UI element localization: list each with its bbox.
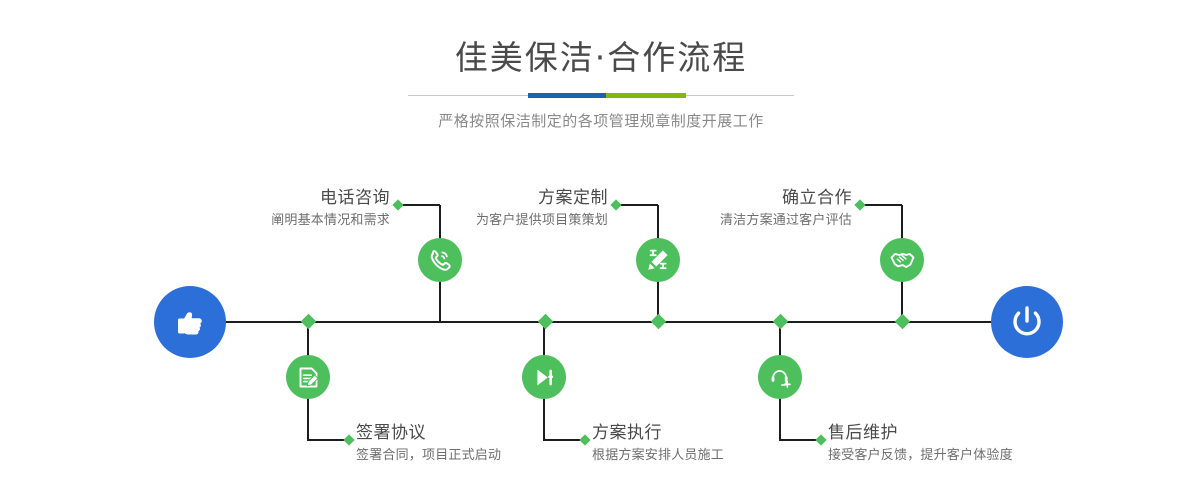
step-label-4: 方案执行 根据方案安排人员施工	[592, 422, 852, 466]
step-title-3: 方案定制	[352, 187, 608, 209]
pencil-design-icon	[645, 247, 671, 273]
step-node-1	[418, 238, 462, 282]
step-node-2	[286, 355, 330, 399]
handshake-icon	[889, 247, 916, 274]
step-label-5: 确立合作 清洁方案通过客户评估	[596, 187, 852, 231]
step-label-2: 签署协议 签署合同，项目正式启动	[356, 422, 616, 466]
axis-node-marker-5	[895, 314, 911, 330]
leader-step-1	[398, 204, 440, 206]
step-title-6: 售后维护	[828, 422, 1108, 444]
axis-node-marker-1	[301, 314, 317, 330]
step-desc-3: 为客户提供项目策策划	[352, 211, 608, 231]
phone-call-icon	[427, 247, 453, 273]
step-node-3	[636, 238, 680, 282]
document-edit-icon	[296, 365, 321, 390]
play-execute-icon	[532, 365, 557, 390]
step-desc-4: 根据方案安排人员施工	[592, 446, 852, 466]
step-label-6: 售后维护 接受客户反馈，提升客户体验度	[828, 422, 1108, 466]
step-node-6	[758, 355, 802, 399]
axis-node-marker-3	[651, 314, 667, 330]
step-label-3: 方案定制 为客户提供项目策策划	[352, 187, 608, 231]
power-icon	[1006, 301, 1048, 343]
timeline-end-endpoint	[991, 286, 1063, 358]
customer-service-icon	[768, 365, 793, 390]
step-node-4	[522, 355, 566, 399]
process-flow-infographic: 佳美保洁·合作流程 严格按照保洁制定的各项管理规章制度开展工作	[0, 0, 1202, 502]
label-marker-5	[854, 199, 865, 210]
leader-step-3	[616, 204, 658, 206]
step-desc-2: 签署合同，项目正式启动	[356, 446, 616, 466]
timeline: 电话咨询 阐明基本情况和需求 签署协议 签署合同，项目正式启动	[0, 0, 1202, 502]
axis-node-marker-2	[538, 314, 554, 330]
step-desc-6: 接受客户反馈，提升客户体验度	[828, 446, 1108, 466]
axis-node-marker-4	[773, 314, 789, 330]
label-marker-2	[343, 434, 354, 445]
pointing-hand-icon	[170, 302, 210, 342]
leader-step-5	[860, 204, 902, 206]
timeline-start-endpoint	[154, 286, 226, 358]
step-node-5	[880, 238, 924, 282]
step-desc-5: 清洁方案通过客户评估	[596, 211, 852, 231]
